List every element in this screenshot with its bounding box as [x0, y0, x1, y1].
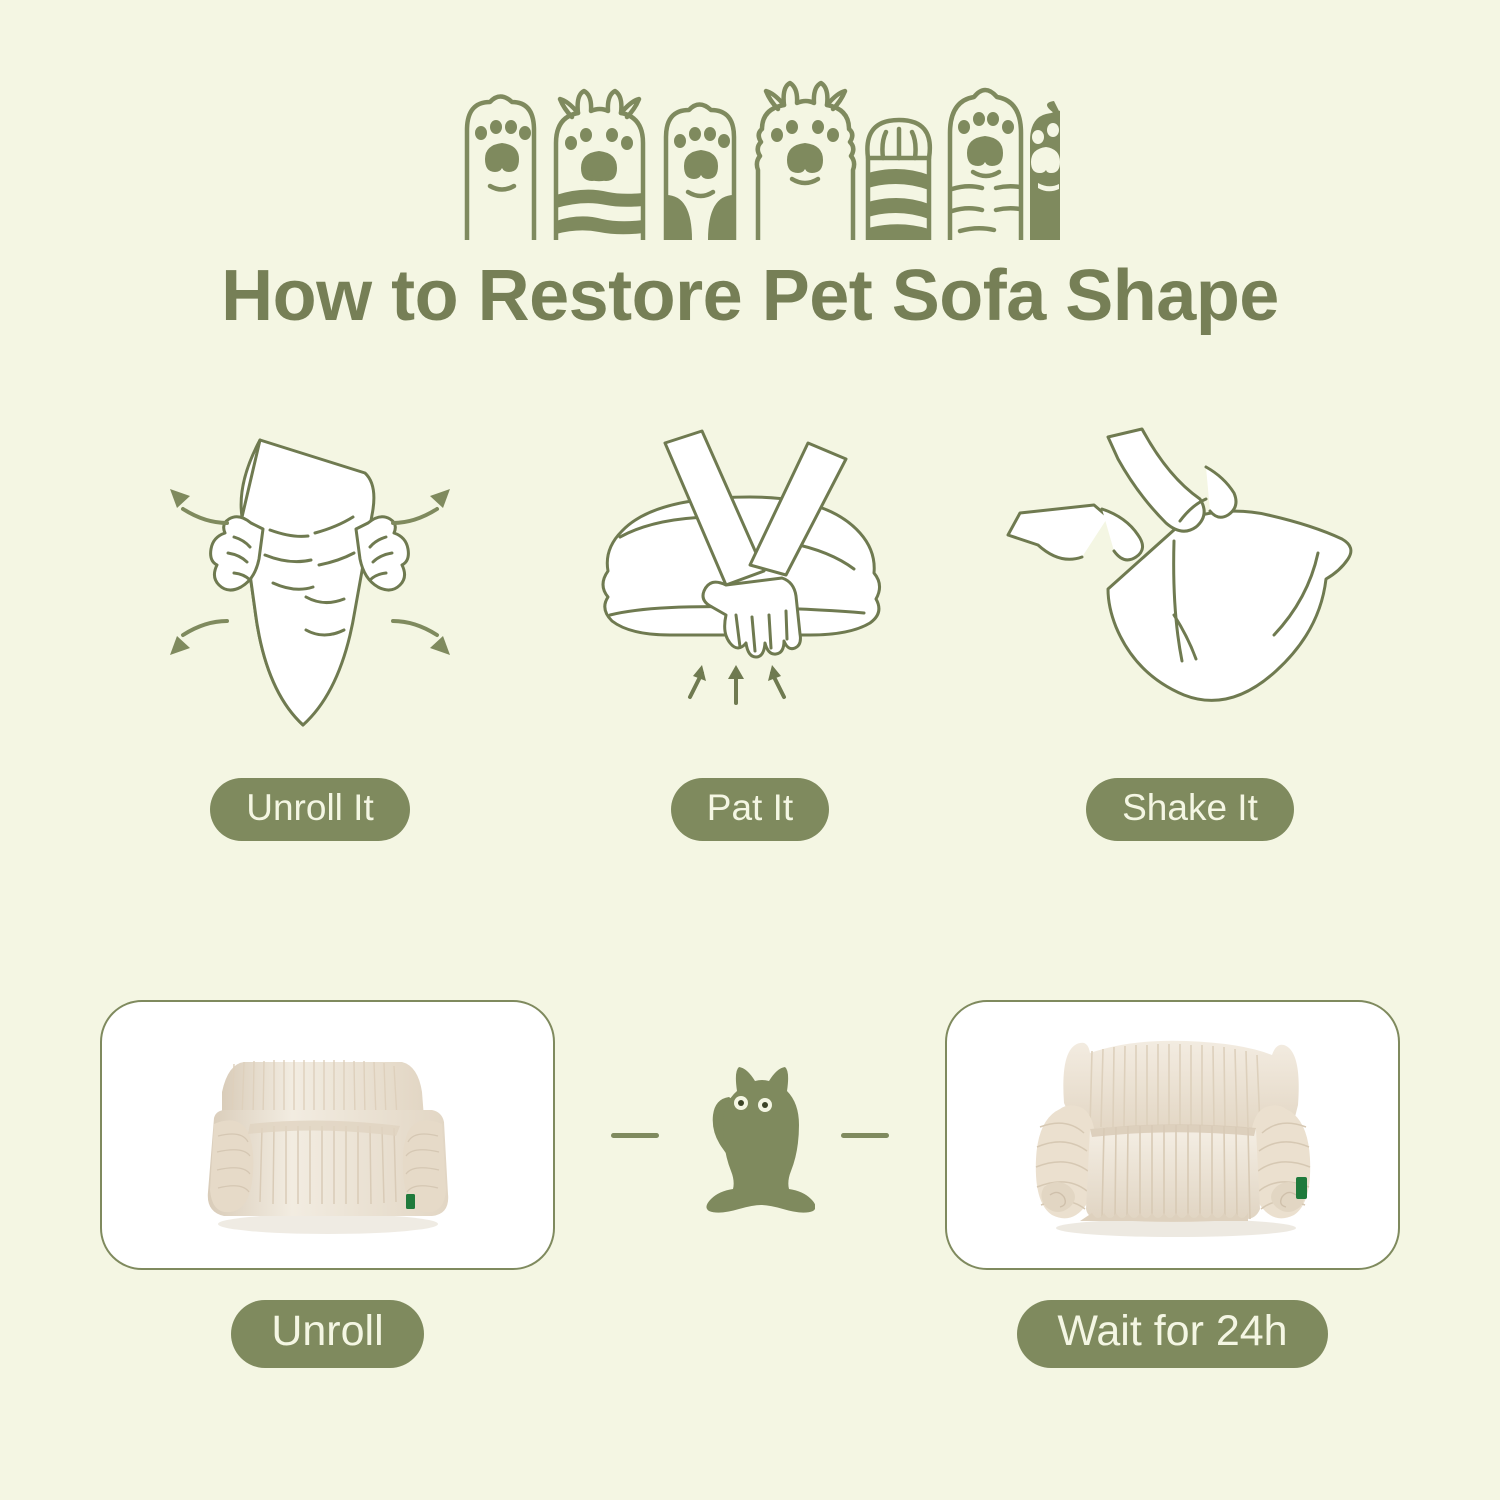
comparison-divider: [555, 1000, 945, 1270]
comparison-label-after: Wait for 24h: [1017, 1300, 1327, 1368]
label-slot-before: Unroll: [100, 1300, 555, 1368]
step-unroll-it: Unroll It: [90, 420, 530, 841]
step-shake-it: Shake It: [970, 420, 1410, 841]
unroll-illustration-icon: [110, 425, 510, 755]
rolled-pet-sofa-photo: [178, 1028, 478, 1243]
divider-dash-right: [841, 1133, 889, 1138]
pat-illustration-icon: [550, 425, 950, 755]
expanded-pet-sofa-photo: [1008, 1025, 1338, 1245]
photo-card-before: [100, 1000, 555, 1270]
label-slot-after: Wait for 24h: [945, 1300, 1400, 1368]
infographic-page: How to Restore Pet Sofa Shape: [0, 0, 1500, 1500]
shake-it-illustration: [980, 420, 1400, 760]
shake-illustration-icon: [990, 425, 1390, 755]
cat-paws-banner: [0, 60, 1500, 240]
comparison-label-before: Unroll: [231, 1300, 423, 1368]
divider-dash-left: [611, 1133, 659, 1138]
sitting-cat-icon: [685, 1045, 815, 1225]
paw-solid: [1030, 101, 1060, 240]
comparison-labels-row: Unroll Wait for 24h: [0, 1300, 1500, 1390]
step-pat-it: Pat It: [530, 420, 970, 841]
step-label-pat-it: Pat It: [671, 778, 829, 841]
page-title: How to Restore Pet Sofa Shape: [0, 255, 1500, 337]
steps-row: Unroll It: [0, 420, 1500, 860]
comparison-row: [0, 985, 1500, 1285]
pat-it-illustration: [540, 420, 960, 760]
step-label-shake-it: Shake It: [1086, 778, 1294, 841]
photo-card-after: [945, 1000, 1400, 1270]
step-label-unroll-it: Unroll It: [210, 778, 409, 841]
cat-paws-icon: [440, 55, 1060, 240]
unroll-it-illustration: [100, 420, 520, 760]
